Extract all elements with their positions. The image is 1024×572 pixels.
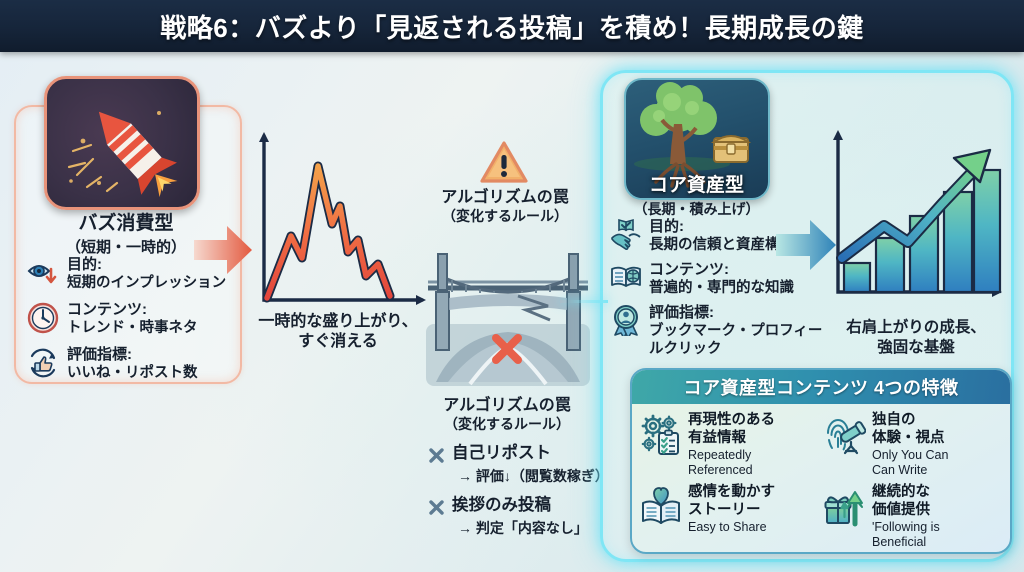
eye-down-icon [26,256,60,290]
feature-jp-line2: 価値提供 [872,502,930,518]
x-mark-icon [428,499,445,516]
feature-jp-line2: 有益情報 [688,430,746,446]
rocket-firework-icon [44,76,200,210]
heart-book-icon [640,485,682,527]
open-book-brain-icon [610,261,642,293]
feature-item: 感情を動かす ストーリー Easy to Share [638,481,820,551]
spike-chart [250,128,430,318]
spike-caption-line1: 一時的な盛り上がり、 [258,313,417,330]
gears-checklist-icon [640,413,682,455]
feature-jp-line1: 感情を動かす [688,484,775,500]
core-title-group: コア資産型 （長期・積み上げ） [614,170,779,219]
feature-en-line1: 'Following is [872,520,940,534]
trap-bullet-sub: → 判定「内容なし」 [458,518,588,538]
core-attribute-value: ブックマーク・プロフィールクリック [649,323,822,357]
growth-caption-line2: 強固な基盤 [877,339,955,356]
buzz-attribute-value: いいね・リポスト数 [67,365,198,381]
feature-box-header: コア資産型コンテンツ 4つの特徴 [632,370,1010,404]
page-header: 戦略6：バズより「見返される投稿」を積め！長期成長の鍵 [0,0,1024,52]
buzz-attribute-label: 目的: [67,256,102,273]
trap-top-title: アルゴリズムの罠 [415,188,595,208]
glow-connector [560,300,608,303]
feature-en-line1: Only You Can [872,448,948,462]
feature-jp-line1: 再現性のある [688,412,775,428]
broken-bridge-icon [418,232,598,392]
feature-jp-line2: ストーリー [688,502,761,518]
trap-bottom-subtitle: （変化するルール） [412,416,602,433]
feature-jp-line1: 独自の [872,412,916,428]
feature-en-line1: Easy to Share [688,520,767,534]
buzz-attribute-row: コンテンツ: トレンド・時事ネタ [26,301,240,337]
buzz-attribute-value: トレンド・時事ネタ [67,320,198,336]
feature-en-line1: Repeatedly [688,448,751,462]
trap-bottom-title: アルゴリズムの罠 [412,396,602,416]
handshake-shield-icon [610,218,642,250]
growth-chart [822,126,1012,316]
spike-chart-caption: 一時的な盛り上がり、 すぐ消える [238,312,438,353]
core-attribute-label: コンテンツ: [649,261,729,278]
infographic-page: 戦略6：バズより「見返される投稿」を積め！長期成長の鍵 [0,0,1024,572]
core-title: コア資産型 [614,170,779,197]
warning-triangle-icon [480,140,528,184]
feature-en-line2: Can Write [872,463,927,477]
thumbs-up-repost-icon [26,346,60,380]
core-attribute-label: 評価指標: [649,304,714,321]
feature-item: 再現性のある 有益情報 Repeatedly Referenced [638,409,820,479]
core-to-growth-arrow [776,216,838,279]
growth-caption-line1: 右肩上がりの成長、 [846,319,986,336]
trap-bullet: 自己リポスト [428,444,551,464]
trap-bullet-sub: → 評価↓（閲覧数稼ぎ） [458,466,609,486]
x-mark-icon [428,447,445,464]
page-title: 戦略6：バズより「見返される投稿」を積め！長期成長の鍵 [160,8,863,45]
spike-caption-line2: すぐ消える [298,333,378,350]
trap-bottom-title-group: アルゴリズムの罠 （変化するルール） [412,396,602,433]
core-attribute-value: 普遍的・専門的な知識 [649,280,794,296]
buzz-attribute-label: 評価指標: [67,346,132,363]
trap-bullet-main: 挨拶のみ投稿 [452,496,551,514]
feature-box-title: コア資産型コンテンツ 4つの特徴 [683,374,958,400]
feature-en-line2: Beneficial [872,535,926,549]
trap-top-title-group: アルゴリズムの罠 （変化するルール） [415,188,595,225]
feature-jp-line2: 体験・視点 [872,430,945,446]
feature-en-line2: Referenced [688,463,753,477]
fingerprint-telescope-icon [824,413,866,455]
buzz-to-spike-arrow [194,222,254,283]
core-attribute-value: 長期の信頼と資産構築 [649,237,794,253]
core-subtitle: （長期・積み上げ） [614,199,779,219]
clock-icon [26,301,60,335]
trap-bullet-main: 自己リポスト [452,444,551,462]
feature-grid: 再現性のある 有益情報 Repeatedly Referenced [632,404,1010,552]
award-badge-icon [610,304,642,336]
trap-bullet: 挨拶のみ投稿 [428,496,551,516]
core-attribute-label: 目的: [649,218,684,235]
gift-uparrow-icon [824,485,866,527]
feature-item: 継続的な 価値提供 'Following is Beneficial [822,481,1004,551]
growth-chart-caption: 右肩上がりの成長、 強固な基盤 [818,318,1014,358]
core-attribute-row: 評価指標: ブックマーク・プロフィールクリック [610,304,825,358]
feature-box: コア資産型コンテンツ 4つの特徴 [630,368,1012,554]
feature-item: 独自の 体験・視点 Only You Can Can Write [822,409,1004,479]
trap-top-subtitle: （変化するルール） [415,208,595,225]
buzz-attribute-label: コンテンツ: [67,301,147,318]
buzz-attribute-row: 評価指標: いいね・リポスト数 [26,346,240,382]
feature-jp-line1: 継続的な [872,484,930,500]
